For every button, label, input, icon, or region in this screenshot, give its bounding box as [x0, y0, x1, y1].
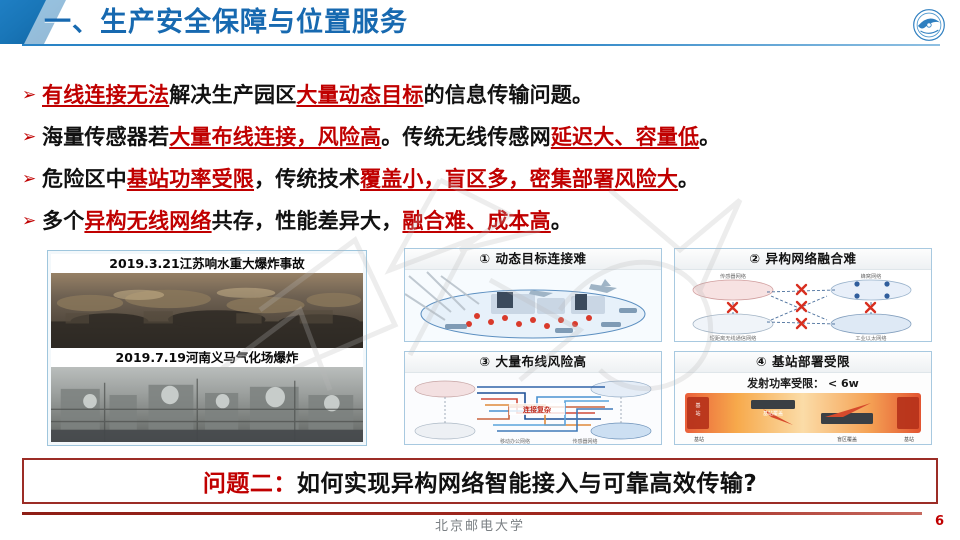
svg-text:基站覆盖: 基站覆盖	[763, 410, 783, 417]
footer-organization: 北京邮电大学	[0, 515, 960, 534]
panel-2-body: 传感器网络 蜂窝网络 短距离无线通信网络 工业以太网络	[675, 270, 931, 342]
panel-2-title: ② 异构网络融合难	[675, 249, 931, 270]
bullet-segment: 。传统无线传感网	[381, 125, 551, 149]
list-item: ➢ 多个异构无线网络共存，性能差异大，融合难、成本高。	[22, 200, 940, 242]
panel-3-title: ③ 大量布线风险高	[405, 352, 661, 373]
panel-wiring-risk: ③ 大量布线风险高	[404, 351, 662, 445]
bullet-segment: ，传统技术	[254, 167, 360, 191]
bullet-segment: 。	[551, 209, 572, 233]
bullet-segment-highlight: 融合难、成本高	[402, 209, 550, 233]
bupt-logo-icon	[912, 8, 946, 42]
bullet-segment-highlight: 基站功率受限	[127, 167, 254, 191]
mass-wiring-diagram: 连接复杂 移动办公网络 传感器网络	[405, 373, 661, 445]
svg-text:基站: 基站	[904, 436, 914, 443]
bullet-text: 海量传感器若大量布线连接，风险高。传统无线传感网延迟大、容量低。	[42, 116, 720, 158]
bullet-marker-icon: ➢	[22, 74, 42, 116]
bullet-marker-icon: ➢	[22, 200, 42, 242]
incident-photo-2-caption: 2019.7.19河南义马气化场爆炸	[51, 348, 363, 367]
svg-text:工业以太网络: 工业以太网络	[855, 334, 886, 342]
heterogeneous-network-diagram: 传感器网络 蜂窝网络 短距离无线通信网络 工业以太网络	[675, 270, 931, 342]
slide-header: 一、生产安全保障与位置服务	[0, 0, 960, 48]
panel-4-body: 基站覆盖 基站 基站 盲区覆盖 基站 发射功率受限： < 6w	[675, 373, 931, 445]
bullet-segment-highlight: 有线连接无法	[42, 83, 169, 107]
svg-text:基站: 基站	[694, 436, 704, 443]
bullet-list: ➢ 有线连接无法解决生产园区大量动态目标的信息传输问题。 ➢ 海量传感器若大量布…	[22, 74, 940, 242]
bullet-segment: 多个	[42, 209, 84, 233]
bullet-segment: 。	[678, 167, 699, 191]
question-banner-text: 问题二：如何实现异构网络智能接入与可靠高效传输?	[203, 464, 757, 498]
svg-text:基: 基	[695, 402, 700, 409]
header-divider	[22, 44, 940, 46]
bullet-segment: 解决生产园区	[169, 83, 296, 107]
bullet-text: 有线连接无法解决生产园区大量动态目标的信息传输问题。	[42, 74, 593, 116]
problem-panel-grid: ① 动态目标连接难	[404, 248, 932, 446]
panel-dynamic-target: ① 动态目标连接难	[404, 248, 662, 342]
incident-photo-stack: 2019.3.21江苏响水重大爆炸事故	[47, 250, 367, 446]
bullet-segment-highlight: 覆盖小，盲区多，密集部署风险大	[360, 167, 678, 191]
svg-text:站: 站	[695, 410, 700, 417]
question-body: 如何实现异构网络智能接入与可靠高效传输?	[297, 471, 757, 497]
svg-text:盲区覆盖: 盲区覆盖	[837, 436, 857, 443]
list-item: ➢ 危险区中基站功率受限，传统技术覆盖小，盲区多，密集部署风险大。	[22, 158, 940, 200]
svg-text:蜂窝网络: 蜂窝网络	[861, 272, 882, 280]
svg-text:短距离无线通信网络: 短距离无线通信网络	[710, 334, 757, 342]
panel-base-station-limit: ④ 基站部署受限	[674, 351, 932, 445]
bullet-segment-highlight: 大量布线连接，风险高	[169, 125, 381, 149]
bullet-segment: 海量传感器若	[42, 125, 169, 149]
bullet-text: 多个异构无线网络共存，性能差异大，融合难、成本高。	[42, 200, 572, 242]
bullet-marker-icon: ➢	[22, 116, 42, 158]
list-item: ➢ 有线连接无法解决生产园区大量动态目标的信息传输问题。	[22, 74, 940, 116]
svg-text:移动办公网络: 移动办公网络	[500, 438, 530, 445]
panel-1-body	[405, 270, 661, 342]
dynamic-target-diagram	[405, 270, 661, 342]
question-banner: 问题二：如何实现异构网络智能接入与可靠高效传输?	[22, 458, 938, 504]
incident-photo-2: 2019.7.19河南义马气化场爆炸	[51, 348, 363, 442]
panel-4-title: ④ 基站部署受限	[675, 352, 931, 373]
bullet-segment-highlight: 大量动态目标	[296, 83, 423, 107]
content-area: 2019.3.21江苏响水重大爆炸事故	[24, 250, 932, 446]
bullet-segment: 的信息传输问题。	[424, 83, 594, 107]
svg-text:传感器网络: 传感器网络	[572, 438, 597, 445]
panel-4-note: 发射功率受限： < 6w	[675, 375, 931, 391]
question-separator: ：	[273, 471, 297, 497]
panel-heterogeneous-fusion: ② 异构网络融合难	[674, 248, 932, 342]
svg-text:传感器网络: 传感器网络	[720, 272, 746, 280]
bullet-text: 危险区中基站功率受限，传统技术覆盖小，盲区多，密集部署风险大。	[42, 158, 699, 200]
bullet-segment: 共存，性能差异大，	[212, 209, 403, 233]
svg-text:连接复杂: 连接复杂	[523, 405, 551, 414]
list-item: ➢ 海量传感器若大量布线连接，风险高。传统无线传感网延迟大、容量低。	[22, 116, 940, 158]
incident-photo-1-caption: 2019.3.21江苏响水重大爆炸事故	[51, 254, 363, 273]
bullet-marker-icon: ➢	[22, 158, 42, 200]
page-title: 一、生产安全保障与位置服务	[44, 3, 408, 43]
page-number: 6	[935, 514, 944, 529]
bullet-segment-highlight: 延迟大、容量低	[551, 125, 699, 149]
panel-1-title: ① 动态目标连接难	[405, 249, 661, 270]
bullet-segment-highlight: 异构无线网络	[84, 209, 211, 233]
bullet-segment: 。	[699, 125, 720, 149]
bullet-segment: 危险区中	[42, 167, 127, 191]
question-label: 问题二	[203, 471, 274, 497]
incident-photo-1: 2019.3.21江苏响水重大爆炸事故	[51, 254, 363, 348]
panel-3-body: 连接复杂 移动办公网络 传感器网络	[405, 373, 661, 445]
